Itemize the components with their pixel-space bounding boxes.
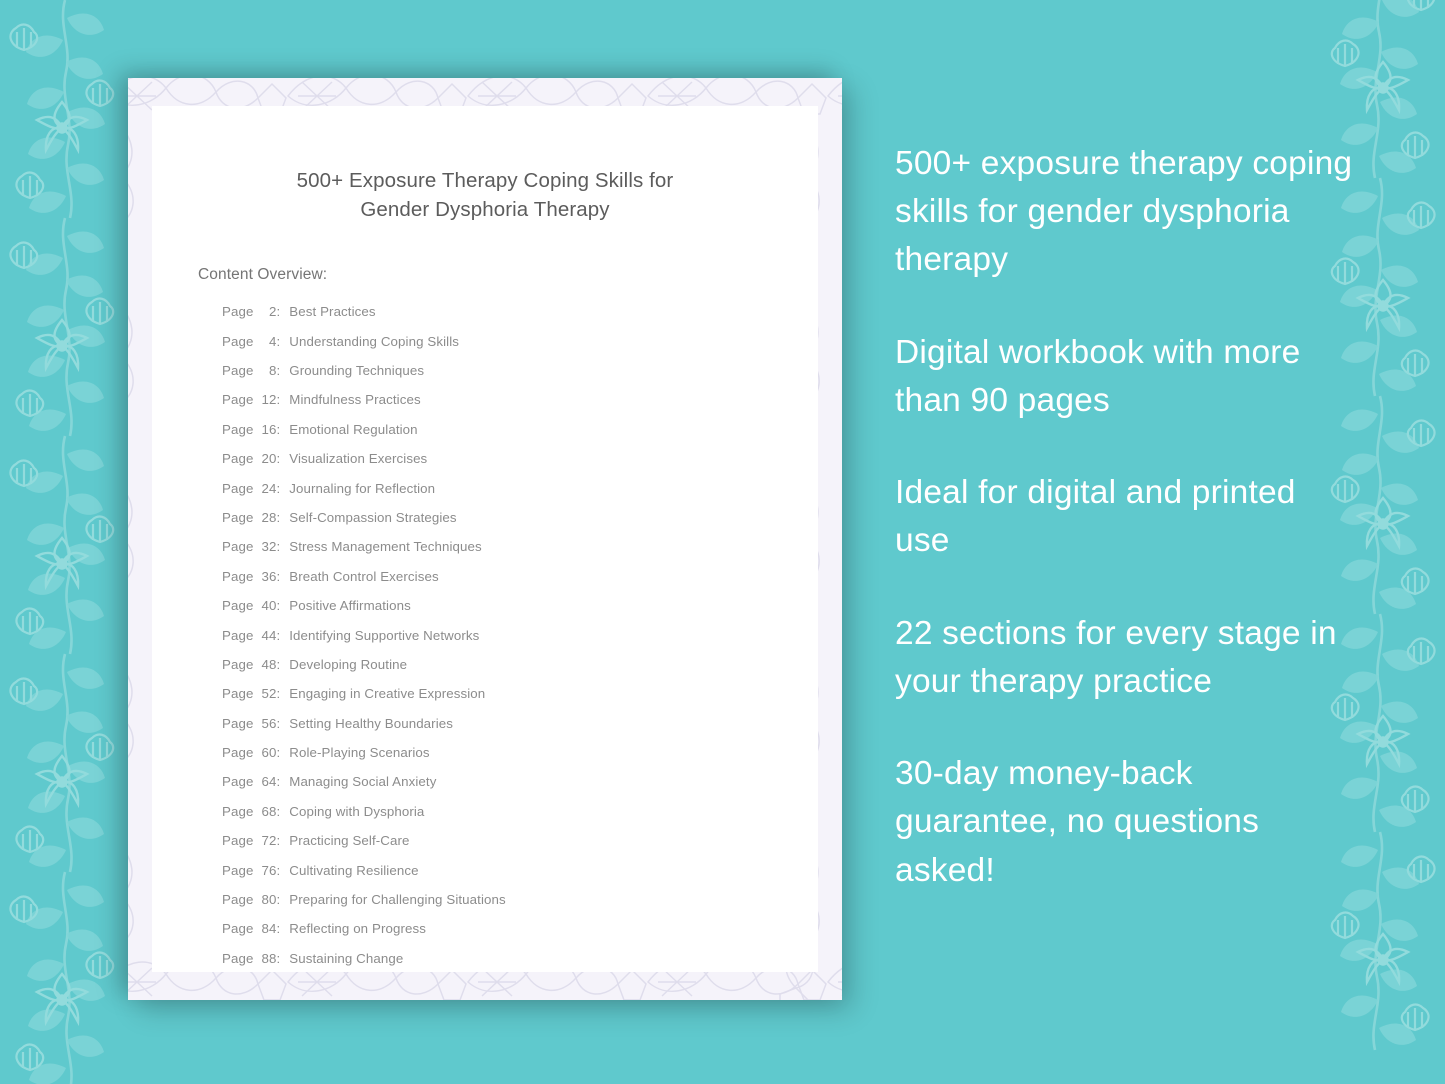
toc-entry-title: Developing Routine [289, 658, 407, 671]
toc-entry: Page28:Self-Compassion Strategies [222, 511, 818, 524]
toc-entry: Page68:Coping with Dysphoria [222, 805, 818, 818]
toc-page-number: 76 [257, 864, 276, 877]
toc-colon: : [276, 393, 280, 406]
marketing-feature-list: 500+ exposure therapy coping skills for … [895, 140, 1355, 895]
toc-colon: : [276, 687, 280, 700]
toc-entry: Page16:Emotional Regulation [222, 423, 818, 436]
toc-page-word: Page [222, 893, 253, 906]
toc-entry: Page44:Identifying Supportive Networks [222, 629, 818, 642]
toc-page-number: 28 [257, 511, 276, 524]
toc-entry-title: Managing Social Anxiety [289, 775, 436, 788]
toc-page-word: Page [222, 746, 253, 759]
toc-entry: Page4:Understanding Coping Skills [222, 335, 818, 348]
toc-entry: Page84:Reflecting on Progress [222, 922, 818, 935]
toc-page-number: 4 [257, 335, 276, 348]
toc-colon: : [276, 423, 280, 436]
toc-page-word: Page [222, 629, 253, 642]
marketing-feature-text: 30-day money-back guarantee, no question… [895, 750, 1355, 895]
toc-entry-title: Emotional Regulation [289, 423, 417, 436]
toc-colon: : [276, 540, 280, 553]
toc-page-word: Page [222, 599, 253, 612]
toc-colon: : [276, 305, 280, 318]
toc-page-word: Page [222, 775, 253, 788]
toc-entry-title: Grounding Techniques [289, 364, 424, 377]
toc-page-number: 52 [257, 687, 276, 700]
table-of-contents-list: Page2:Best PracticesPage4:Understanding … [152, 284, 818, 972]
toc-colon: : [276, 864, 280, 877]
toc-page-word: Page [222, 335, 253, 348]
toc-page-word: Page [222, 452, 253, 465]
content-overview-heading: Content Overview: [152, 224, 818, 284]
toc-page-number: 16 [257, 423, 276, 436]
toc-colon: : [276, 599, 280, 612]
toc-entry: Page24:Journaling for Reflection [222, 482, 818, 495]
toc-entry-title: Understanding Coping Skills [289, 335, 459, 348]
toc-entry: Page12:Mindfulness Practices [222, 393, 818, 406]
toc-page-word: Page [222, 305, 253, 318]
toc-entry: Page48:Developing Routine [222, 658, 818, 671]
toc-page-word: Page [222, 511, 253, 524]
toc-entry: Page80:Preparing for Challenging Situati… [222, 893, 818, 906]
toc-entry-title: Engaging in Creative Expression [289, 687, 485, 700]
toc-entry: Page2:Best Practices [222, 305, 818, 318]
toc-colon: : [276, 746, 280, 759]
toc-page-number: 84 [257, 922, 276, 935]
toc-entry-title: Cultivating Resilience [289, 864, 418, 877]
toc-page-number: 12 [257, 393, 276, 406]
page-title: 500+ Exposure Therapy Coping Skills for … [152, 106, 818, 224]
toc-entry-title: Visualization Exercises [289, 452, 427, 465]
toc-colon: : [276, 629, 280, 642]
workbook-page-sheet: 500+ Exposure Therapy Coping Skills for … [152, 106, 818, 972]
toc-entry: Page76:Cultivating Resilience [222, 864, 818, 877]
toc-page-number: 40 [257, 599, 276, 612]
toc-entry-title: Preparing for Challenging Situations [289, 893, 505, 906]
toc-colon: : [276, 364, 280, 377]
toc-page-word: Page [222, 952, 253, 965]
toc-page-number: 64 [257, 775, 276, 788]
toc-colon: : [276, 775, 280, 788]
marketing-feature-text: 22 sections for every stage in your ther… [895, 610, 1355, 706]
toc-page-word: Page [222, 570, 253, 583]
toc-page-word: Page [222, 364, 253, 377]
toc-colon: : [276, 717, 280, 730]
toc-entry: Page8:Grounding Techniques [222, 364, 818, 377]
toc-page-number: 8 [257, 364, 276, 377]
toc-page-number: 56 [257, 717, 276, 730]
toc-colon: : [276, 922, 280, 935]
toc-page-number: 72 [257, 834, 276, 847]
toc-colon: : [276, 805, 280, 818]
toc-entry: Page72:Practicing Self-Care [222, 834, 818, 847]
toc-entry-title: Sustaining Change [289, 952, 403, 965]
toc-entry: Page52:Engaging in Creative Expression [222, 687, 818, 700]
toc-entry: Page32:Stress Management Techniques [222, 540, 818, 553]
toc-page-word: Page [222, 658, 253, 671]
toc-page-number: 68 [257, 805, 276, 818]
toc-colon: : [276, 335, 280, 348]
toc-page-number: 24 [257, 482, 276, 495]
toc-entry-title: Identifying Supportive Networks [289, 629, 479, 642]
marketing-feature-text: Digital workbook with more than 90 pages [895, 329, 1355, 425]
toc-page-word: Page [222, 423, 253, 436]
toc-page-number: 88 [257, 952, 276, 965]
toc-entry: Page88:Sustaining Change [222, 952, 818, 965]
toc-entry-title: Journaling for Reflection [289, 482, 435, 495]
toc-page-word: Page [222, 922, 253, 935]
toc-entry-title: Positive Affirmations [289, 599, 411, 612]
toc-entry-title: Best Practices [289, 305, 375, 318]
toc-page-word: Page [222, 805, 253, 818]
toc-page-number: 2 [257, 305, 276, 318]
toc-page-number: 32 [257, 540, 276, 553]
toc-entry: Page64:Managing Social Anxiety [222, 775, 818, 788]
toc-entry-title: Stress Management Techniques [289, 540, 482, 553]
toc-colon: : [276, 952, 280, 965]
toc-page-word: Page [222, 717, 253, 730]
toc-entry-title: Setting Healthy Boundaries [289, 717, 453, 730]
toc-colon: : [276, 511, 280, 524]
toc-entry: Page60:Role-Playing Scenarios [222, 746, 818, 759]
toc-entry: Page36:Breath Control Exercises [222, 570, 818, 583]
toc-colon: : [276, 452, 280, 465]
toc-entry: Page56:Setting Healthy Boundaries [222, 717, 818, 730]
toc-page-number: 36 [257, 570, 276, 583]
toc-entry-title: Coping with Dysphoria [289, 805, 424, 818]
toc-page-number: 60 [257, 746, 276, 759]
marketing-feature-text: Ideal for digital and printed use [895, 469, 1355, 565]
toc-entry: Page20:Visualization Exercises [222, 452, 818, 465]
marketing-feature-text: 500+ exposure therapy coping skills for … [895, 140, 1355, 285]
toc-page-number: 80 [257, 893, 276, 906]
toc-colon: : [276, 834, 280, 847]
toc-colon: : [276, 482, 280, 495]
toc-page-number: 20 [257, 452, 276, 465]
workbook-preview-card: 500+ Exposure Therapy Coping Skills for … [128, 78, 842, 1000]
toc-entry: Page40:Positive Affirmations [222, 599, 818, 612]
toc-page-word: Page [222, 834, 253, 847]
page-background: 500+ Exposure Therapy Coping Skills for … [0, 0, 1445, 1084]
toc-entry-title: Reflecting on Progress [289, 922, 426, 935]
toc-page-word: Page [222, 540, 253, 553]
toc-entry-title: Practicing Self-Care [289, 834, 409, 847]
toc-colon: : [276, 658, 280, 671]
toc-page-word: Page [222, 393, 253, 406]
toc-entry-title: Role-Playing Scenarios [289, 746, 429, 759]
toc-entry-title: Breath Control Exercises [289, 570, 438, 583]
floral-vine-left-icon [0, 0, 130, 1084]
toc-colon: : [276, 893, 280, 906]
toc-page-word: Page [222, 482, 253, 495]
toc-colon: : [276, 570, 280, 583]
toc-page-word: Page [222, 864, 253, 877]
toc-page-number: 44 [257, 629, 276, 642]
toc-page-number: 48 [257, 658, 276, 671]
toc-entry-title: Self-Compassion Strategies [289, 511, 456, 524]
toc-entry-title: Mindfulness Practices [289, 393, 420, 406]
toc-page-word: Page [222, 687, 253, 700]
